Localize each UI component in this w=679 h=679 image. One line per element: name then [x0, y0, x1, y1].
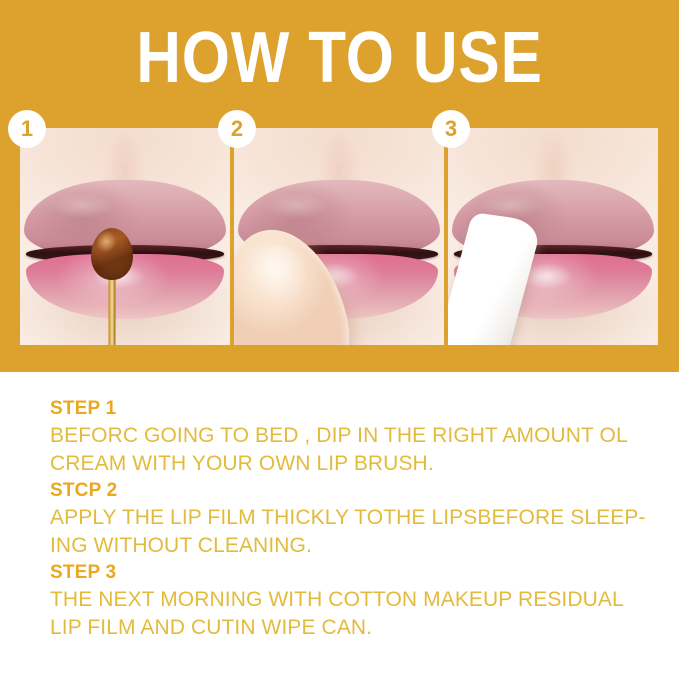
step-2-line-1: APPLY THE LIP FILM THICKLY TOTHE LIPSBEF…: [50, 504, 650, 532]
step-image-strip: [20, 128, 658, 345]
step-3-line-2: LIP FILM AND CUTIN WIPE CAN.: [50, 614, 650, 642]
step-image-2: [234, 128, 444, 345]
step-image-1: [20, 128, 230, 345]
step-1-heading: STEP 1: [50, 396, 650, 422]
step-badge-2: 2: [218, 110, 256, 148]
fingernail-highlight: [243, 239, 312, 308]
step-1-body: BEFORC GOING TO BED , DIP IN THE RIGHT A…: [50, 422, 650, 478]
step-2-body: APPLY THE LIP FILM THICKLY TOTHE LIPSBEF…: [50, 504, 650, 560]
step-image-3: [448, 128, 658, 345]
applicator-wand-icon: [91, 228, 133, 280]
how-to-use-infographic: HOW TO USE: [0, 0, 679, 679]
step-badge-3: 3: [432, 110, 470, 148]
page-title: HOW TO USE: [48, 22, 632, 94]
step-1-line-2: CREAM WITH YOUR OWN LIP BRUSH.: [50, 450, 650, 478]
instructions-block: STEP 1 BEFORC GOING TO BED , DIP IN THE …: [50, 396, 650, 642]
step-3-body: THE NEXT MORNING WITH COTTON MAKEUP RESI…: [50, 586, 650, 642]
step-3-line-1: THE NEXT MORNING WITH COTTON MAKEUP RESI…: [50, 586, 650, 614]
step-badge-1: 1: [8, 110, 46, 148]
step-2-heading: STCP 2: [50, 478, 650, 504]
step-1-line-1: BEFORC GOING TO BED , DIP IN THE RIGHT A…: [50, 422, 650, 450]
step-2-line-2: ING WITHOUT CLEANING.: [50, 532, 650, 560]
step-3-heading: STEP 3: [50, 560, 650, 586]
